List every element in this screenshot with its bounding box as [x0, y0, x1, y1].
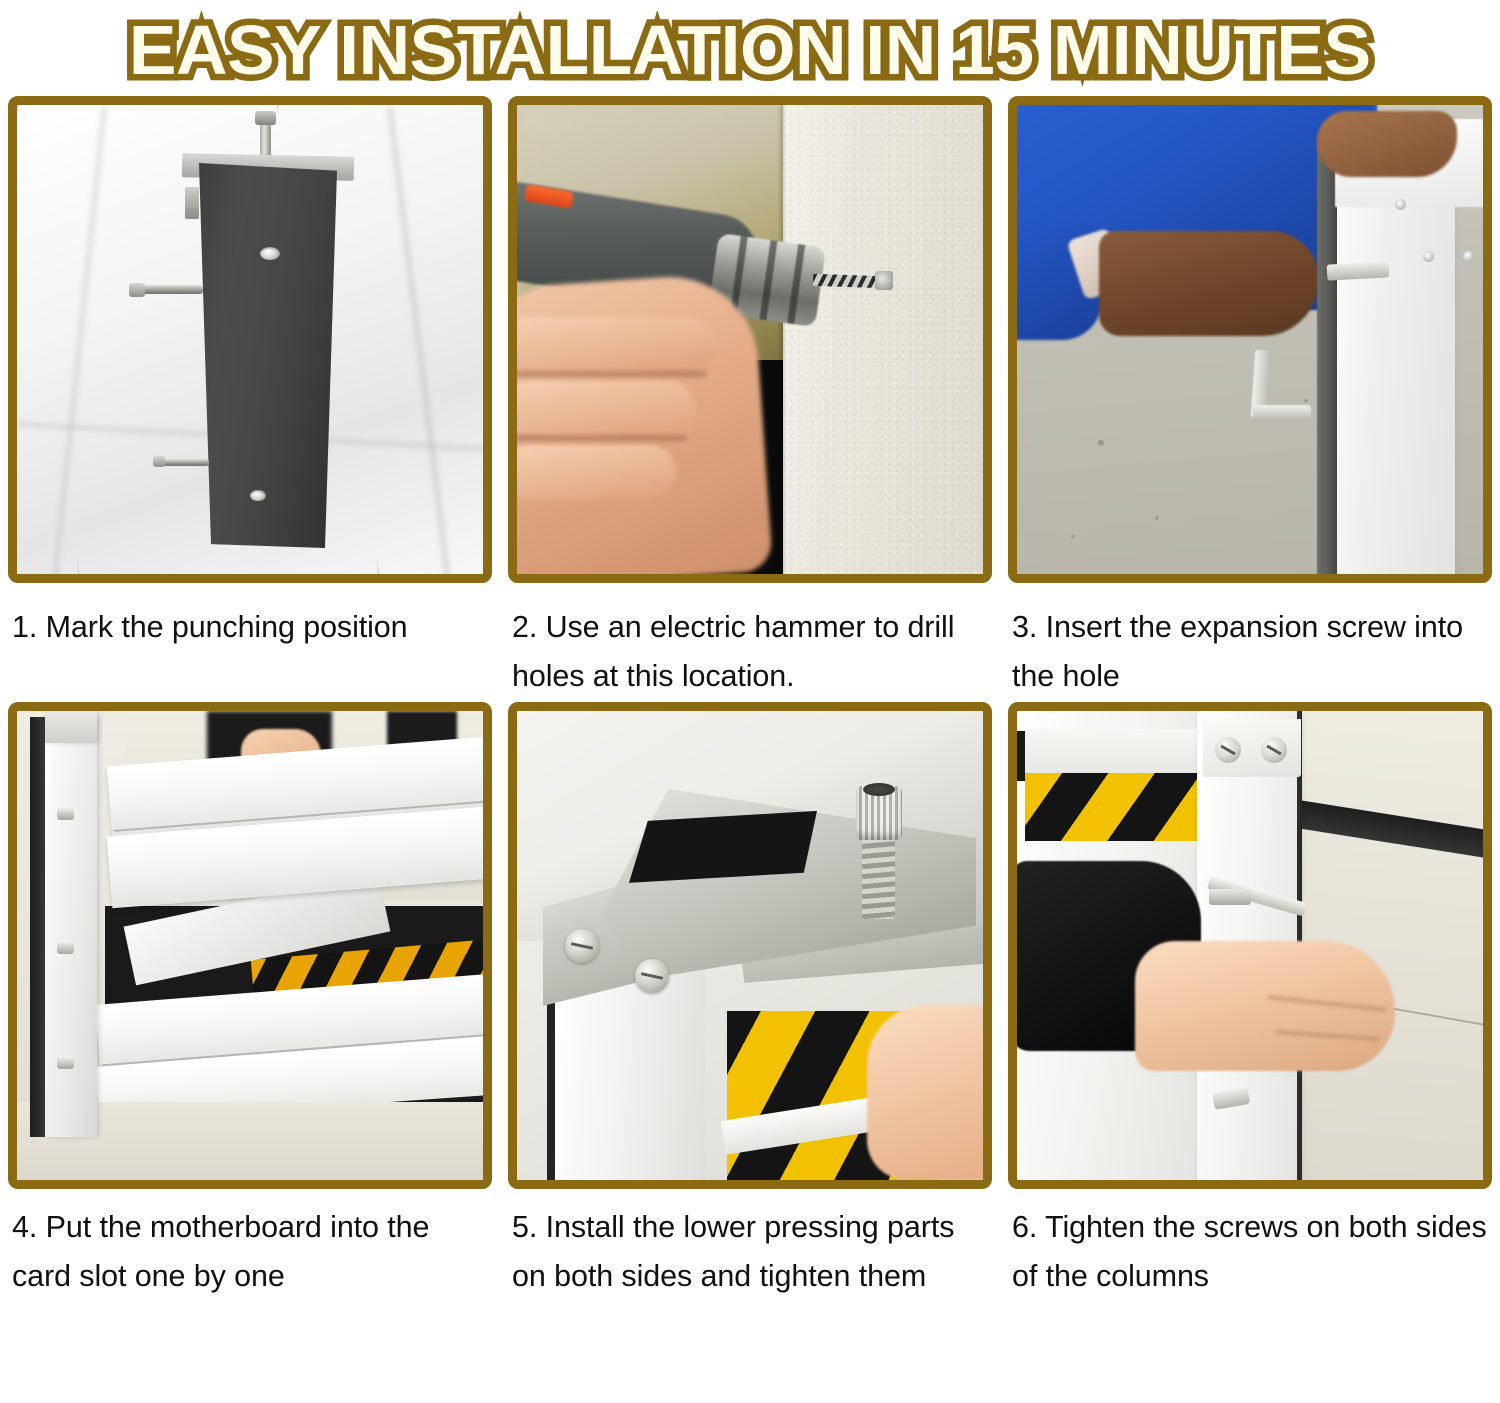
chuck-ring: [759, 240, 777, 320]
column-screw: [1423, 251, 1434, 262]
finger: [517, 381, 696, 437]
post-screw: [57, 807, 74, 820]
finger: [517, 317, 716, 373]
installation-guide-page: EASY INSTALLATION IN 15 MINUTES: [0, 0, 1500, 1403]
wall-edge-shadow: [780, 105, 784, 574]
white-wall: [783, 105, 983, 574]
step-caption-4: 4. Put the motherboard into the card slo…: [8, 1189, 492, 1302]
step-caption-6: 6. Tighten the screws on both sides of t…: [1008, 1189, 1492, 1302]
top-screw-right: [1261, 737, 1287, 763]
side-pin-head-upper: [129, 283, 145, 297]
scene-5: [517, 711, 983, 1180]
steps-grid: 1. Mark the punching position: [0, 96, 1500, 1302]
top-bolt-head: [255, 111, 276, 125]
wall-texture: [783, 105, 983, 574]
column-screw: [1463, 251, 1474, 262]
thumb-bolt-thread: [862, 829, 895, 919]
banner: EASY INSTALLATION IN 15 MINUTES: [0, 0, 1500, 96]
photo-install-pressing-parts: [508, 702, 992, 1189]
finger-separation: [517, 435, 687, 441]
step-card-6: 6. Tighten the screws on both sides of t…: [1000, 702, 1500, 1302]
page-title: EASY INSTALLATION IN 15 MINUTES: [129, 15, 1371, 85]
step-card-5: 5. Install the lower pressing parts on b…: [500, 702, 1000, 1302]
expansion-screw: [1327, 261, 1390, 280]
chuck-ring: [787, 244, 805, 324]
scene-4: [17, 711, 483, 1180]
step-caption-1: 1. Mark the punching position: [8, 583, 492, 652]
side-pin-upper: [135, 285, 203, 294]
post-cap: [45, 711, 97, 743]
hazard-stripe-tape: [1025, 773, 1200, 841]
finger: [517, 445, 676, 499]
step-caption-3: 3. Insert the expansion screw into the h…: [1008, 583, 1492, 702]
forearm: [1099, 231, 1319, 336]
finger: [867, 1005, 983, 1180]
scene-6: [1017, 711, 1483, 1180]
thumb-bolt-hole: [863, 783, 895, 796]
step-caption-5: 5. Install the lower pressing parts on b…: [508, 1189, 992, 1302]
photo-tighten-screws: [1008, 702, 1492, 1189]
bracket-slot-opening: [629, 811, 817, 883]
column-stud: [185, 187, 199, 219]
post-screw: [57, 941, 74, 954]
scene-3: [1017, 105, 1483, 574]
step-card-2: 2. Use an electric hammer to drill holes…: [500, 96, 1000, 702]
white-post: [45, 717, 97, 1137]
upper-hand: [1317, 111, 1457, 177]
marking-hole-upper: [260, 247, 280, 260]
photo-drill-holes: [508, 96, 992, 583]
column-screw: [1395, 199, 1406, 210]
step-card-3: 3. Insert the expansion screw into the h…: [1000, 96, 1500, 702]
scene-1: [17, 105, 483, 574]
bracket-screw-left: [565, 929, 599, 963]
photo-insert-motherboard: [8, 702, 492, 1189]
scene-2: [517, 105, 983, 574]
step-caption-2: 2. Use an electric hammer to drill holes…: [508, 583, 992, 702]
drill-bit-tip: [875, 271, 893, 290]
drill-bit: [813, 274, 881, 288]
step-card-1: 1. Mark the punching position: [0, 96, 500, 702]
step-card-4: 4. Put the motherboard into the card slo…: [0, 702, 500, 1302]
hex-key-arm: [1253, 405, 1311, 419]
side-pin-head-lower: [153, 456, 165, 467]
top-screw-left: [1215, 737, 1241, 763]
post-screw: [57, 1056, 74, 1069]
screwdriver-tip: [1209, 889, 1251, 905]
panel-top-white: [1025, 729, 1200, 774]
photo-insert-expansion-screw: [1008, 96, 1492, 583]
photo-mark-punching-position: [8, 96, 492, 583]
finger-separation: [517, 371, 707, 377]
marking-hole-lower: [250, 490, 266, 501]
bracket-screw-right: [635, 959, 669, 993]
